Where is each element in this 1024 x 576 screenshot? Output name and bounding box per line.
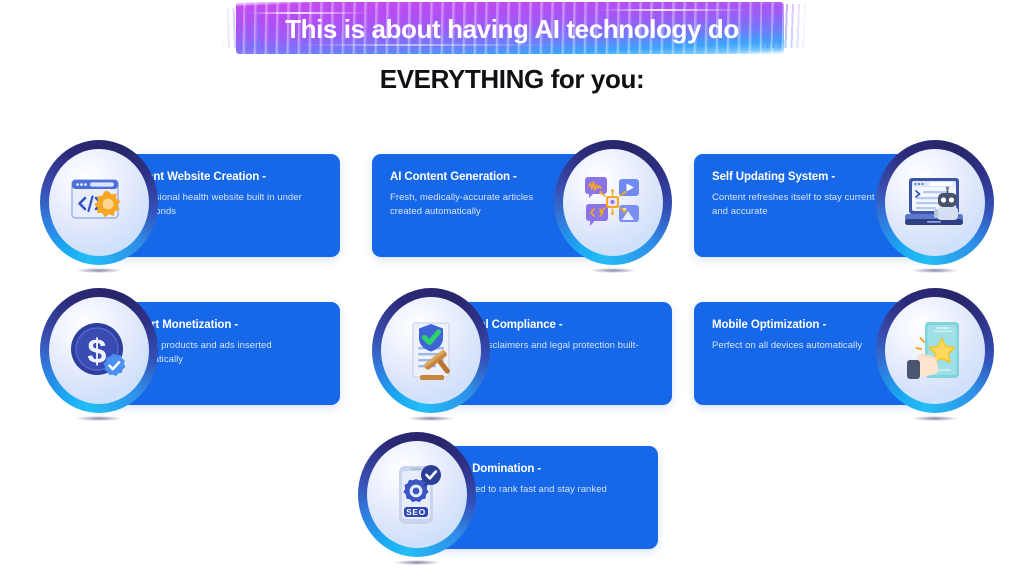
card-icon-circle: $ bbox=[40, 288, 158, 413]
heading-line-2: EVERYTHING for you: bbox=[0, 64, 1024, 95]
heading-line-1: This is about having AI technology do bbox=[0, 14, 1024, 45]
circle-shadow bbox=[590, 268, 636, 273]
feature-card-legal-compliance[interactable]: Legal Compliance - FDA disclaimers and l… bbox=[372, 288, 672, 413]
phone-seo-gear-check-icon: SEO bbox=[358, 432, 476, 557]
document-gavel-shield-icon bbox=[372, 288, 490, 413]
feature-card-instant-website-creation[interactable]: Instant Website Creation - Professional … bbox=[40, 140, 340, 265]
circle-shadow bbox=[408, 416, 454, 421]
card-icon-circle bbox=[40, 140, 158, 265]
phone-star-hand-icon bbox=[876, 288, 994, 413]
browser-code-gear-icon bbox=[40, 140, 158, 265]
ai-media-nodes-icon bbox=[554, 140, 672, 265]
card-description: Content refreshes itself to stay current… bbox=[712, 191, 887, 219]
circle-shadow bbox=[394, 560, 440, 565]
feature-card-ai-content-generation[interactable]: AI Content Generation - Fresh, medically… bbox=[372, 140, 672, 265]
feature-card-self-updating-system[interactable]: Self Updating System - Content refreshes… bbox=[694, 140, 994, 265]
svg-text:$: $ bbox=[88, 333, 107, 371]
card-icon-circle: SEO bbox=[358, 432, 476, 557]
dollar-coin-verified-icon: $ bbox=[40, 288, 158, 413]
card-text-block: Mobile Optimization - Perfect on all dev… bbox=[712, 318, 887, 353]
card-description: Fresh, medically-accurate articles creat… bbox=[390, 191, 565, 219]
circle-shadow bbox=[76, 268, 122, 273]
card-icon-circle bbox=[372, 288, 490, 413]
card-text-block: Self Updating System - Content refreshes… bbox=[712, 170, 887, 219]
card-title: Mobile Optimization - bbox=[712, 318, 887, 332]
feature-card-smart-monetization[interactable]: Smart Monetization - Affiliate products … bbox=[40, 288, 340, 413]
card-icon-circle bbox=[554, 140, 672, 265]
circle-shadow bbox=[76, 416, 122, 421]
circle-shadow bbox=[912, 416, 958, 421]
card-icon-circle bbox=[876, 288, 994, 413]
feature-card-mobile-optimization[interactable]: Mobile Optimization - Perfect on all dev… bbox=[694, 288, 994, 413]
svg-text:SEO: SEO bbox=[406, 507, 426, 517]
card-icon-circle bbox=[876, 140, 994, 265]
card-text-block: AI Content Generation - Fresh, medically… bbox=[390, 170, 565, 219]
laptop-robot-icon bbox=[876, 140, 994, 265]
card-description: Perfect on all devices automatically bbox=[712, 339, 887, 353]
card-title: AI Content Generation - bbox=[390, 170, 565, 184]
circle-shadow bbox=[912, 268, 958, 273]
card-title: Self Updating System - bbox=[712, 170, 887, 184]
feature-card-seo-domination[interactable]: SEO Domination - Designed to rank fast a… bbox=[358, 432, 658, 557]
